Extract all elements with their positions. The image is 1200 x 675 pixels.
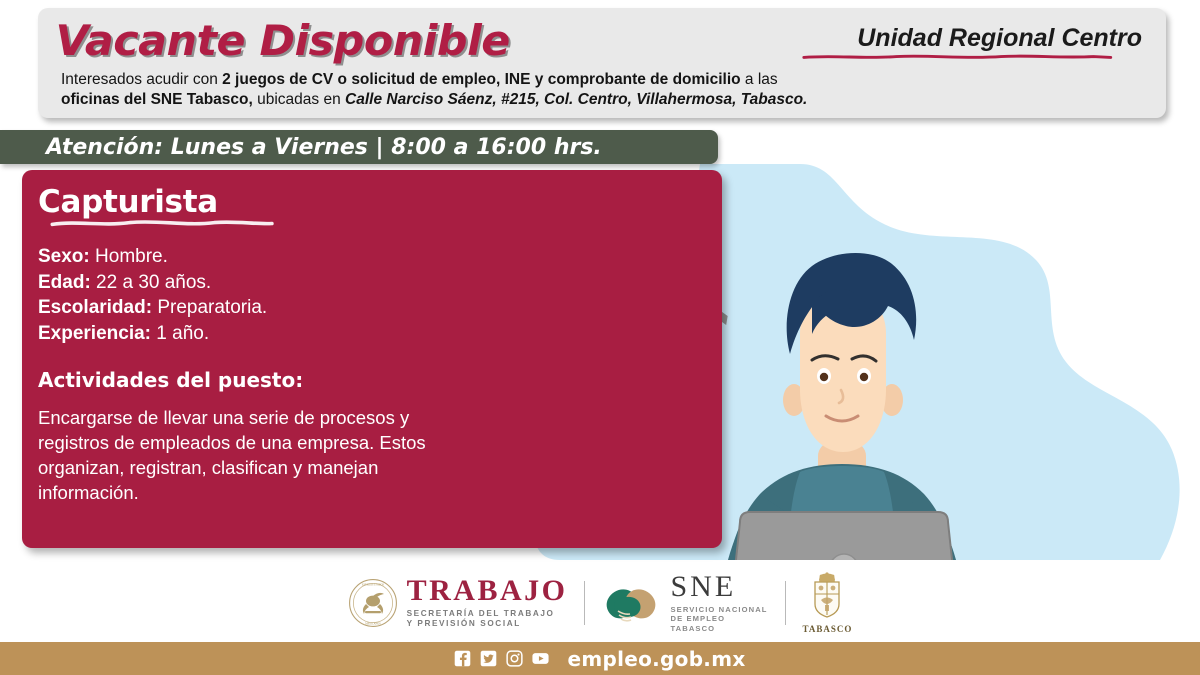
unidad-underline-stroke <box>776 54 1142 60</box>
header-card: Vacante Disponible Unidad Regional Centr… <box>38 8 1166 118</box>
field-value: Hombre. <box>90 246 168 267</box>
svg-text:MEXICANOS: MEXICANOS <box>365 622 381 625</box>
header-paragraph-line1: Interesados acudir con 2 juegos de CV o … <box>61 70 1101 90</box>
sne-text-block: SNE SERVICIO NACIONAL DE EMPLEO TABASCO <box>670 572 767 634</box>
trabajo-text-block: TRABAJO SECRETARÍA DEL TRABAJO Y PREVISI… <box>407 576 568 630</box>
field-row: Escolaridad: Preparatoria. <box>38 295 468 321</box>
header-paragraph-line2: oficinas del SNE Tabasco, ubicadas en Ca… <box>61 90 1101 110</box>
sne-subtitle-line2: DE EMPLEO <box>670 614 767 624</box>
mexico-coat-of-arms-icon: ESTADOS UNIDOS MEXICANOS <box>348 578 398 628</box>
trabajo-subtitle-line2: Y PREVISIÓN SOCIAL <box>407 619 568 630</box>
sne-wordmark: SNE <box>670 572 767 602</box>
field-row: Sexo: Hombre. <box>38 244 468 270</box>
sne-subtitle-line3: TABASCO <box>670 624 767 634</box>
unidad-prefix: Unidad Regional <box>857 24 1061 52</box>
tabasco-wordmark: TABASCO <box>803 624 853 634</box>
trabajo-subtitle-line1: SECRETARÍA DEL TRABAJO <box>407 609 568 620</box>
tabasco-coat-of-arms-icon <box>806 572 848 622</box>
para-l2-b: ubicadas en <box>253 91 345 108</box>
unidad-bold: Centro <box>1061 24 1142 52</box>
vacancy-card-content: Capturista Sexo: Hombre. Edad: 22 a 30 a… <box>38 184 468 505</box>
field-label: Experiencia: <box>38 323 151 344</box>
trabajo-logo: ESTADOS UNIDOS MEXICANOS TRABAJO SECRETA… <box>348 576 568 630</box>
job-title-underline-stroke <box>38 219 288 228</box>
para-l1-b: 2 juegos de CV o solicitud de empleo, IN… <box>222 71 740 88</box>
logo-divider <box>584 581 585 625</box>
unidad-regional-block: Unidad Regional Centro <box>776 24 1142 60</box>
field-row: Experiencia: 1 año. <box>38 321 468 347</box>
para-l1-a: Interesados acudir con <box>61 71 222 88</box>
field-value: 1 año. <box>151 323 209 344</box>
handshake-icon <box>602 579 660 627</box>
facebook-icon[interactable] <box>454 650 471 667</box>
vacancy-card: Capturista Sexo: Hombre. Edad: 22 a 30 a… <box>22 170 722 548</box>
para-l2-c: Calle Narciso Sáenz, #215, Col. Centro, … <box>345 91 807 108</box>
footer-logos-bar: ESTADOS UNIDOS MEXICANOS TRABAJO SECRETA… <box>0 560 1200 645</box>
pupil-left <box>820 373 828 381</box>
vacancy-fields: Sexo: Hombre. Edad: 22 a 30 años. Escola… <box>38 244 468 346</box>
para-l2-a: oficinas del SNE Tabasco, <box>61 91 253 108</box>
social-footer-bar: empleo.gob.mx <box>0 642 1200 675</box>
laptop-lid <box>730 512 958 560</box>
sne-logo: SNE SERVICIO NACIONAL DE EMPLEO TABASCO <box>602 572 767 634</box>
field-label: Escolaridad: <box>38 297 152 318</box>
poster-root: Vacante Disponible Unidad Regional Centr… <box>0 0 1200 675</box>
logo-group: ESTADOS UNIDOS MEXICANOS TRABAJO SECRETA… <box>348 572 853 634</box>
laptop-icon <box>730 512 958 560</box>
field-value: 22 a 30 años. <box>91 272 211 293</box>
activities-body: Encargarse de llevar una serie de proces… <box>38 405 458 505</box>
field-label: Edad: <box>38 272 91 293</box>
pupil-right <box>860 373 868 381</box>
youtube-icon[interactable] <box>532 650 549 667</box>
field-value: Preparatoria. <box>152 297 267 318</box>
field-label: Sexo: <box>38 246 90 267</box>
activities-heading: Actividades del puesto: <box>38 368 468 392</box>
unidad-regional-label: Unidad Regional Centro <box>776 24 1142 53</box>
header-paragraph: Interesados acudir con 2 juegos de CV o … <box>61 70 1101 110</box>
sne-subtitle-line1: SERVICIO NACIONAL <box>670 605 767 615</box>
job-title: Capturista <box>38 184 468 220</box>
logo-divider <box>785 581 786 625</box>
para-l1-c: a las <box>741 71 778 88</box>
page-title: Vacante Disponible <box>56 16 510 65</box>
attention-hours-bar: Atención: Lunes a Viernes | 8:00 a 16:00… <box>0 130 718 164</box>
attention-hours-text: Atención: Lunes a Viernes | 8:00 a 16:00… <box>46 135 602 160</box>
tabasco-logo: TABASCO <box>803 572 853 634</box>
twitter-icon[interactable] <box>480 650 497 667</box>
instagram-icon[interactable] <box>506 650 523 667</box>
field-row: Edad: 22 a 30 años. <box>38 270 468 296</box>
svg-text:ESTADOS UNIDOS: ESTADOS UNIDOS <box>362 583 384 586</box>
website-url[interactable]: empleo.gob.mx <box>567 647 745 671</box>
trabajo-wordmark: TRABAJO <box>407 576 568 606</box>
